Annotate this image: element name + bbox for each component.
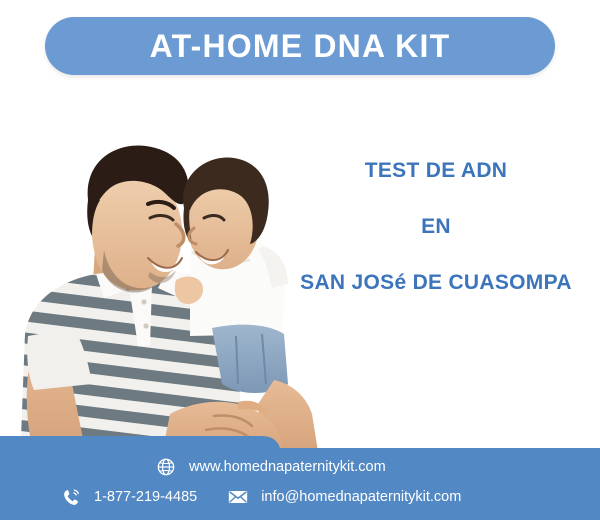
headline-line-3: SAN JOSé DE CUASOMPA [272, 272, 600, 293]
globe-icon [155, 456, 177, 478]
header-band: AT-HOME DNA KIT [0, 0, 600, 92]
phone-icon [60, 486, 82, 508]
envelope-icon [227, 486, 249, 508]
page-title: AT-HOME DNA KIT [150, 30, 451, 62]
headline-block: TEST DE ADN EN SAN JOSé DE CUASOMPA [272, 160, 600, 293]
phone-item[interactable]: 1-877-219-4485 [60, 486, 197, 508]
website-label: www.homednapaternitykit.com [189, 460, 386, 475]
poster-canvas: AT-HOME DNA KIT [0, 0, 600, 520]
title-pill: AT-HOME DNA KIT [45, 17, 555, 75]
footer-contacts: www.homednapaternitykit.com 1-877-219-44… [0, 448, 600, 520]
footer-row-phone-email: 1-877-219-4485 info@homednapaternitykit.… [60, 486, 461, 508]
footer-row-website: www.homednapaternitykit.com [155, 456, 386, 478]
phone-label: 1-877-219-4485 [94, 490, 197, 505]
website-item[interactable]: www.homednapaternitykit.com [155, 456, 386, 478]
headline-line-1: TEST DE ADN [272, 160, 600, 181]
email-label: info@homednapaternitykit.com [261, 490, 461, 505]
email-item[interactable]: info@homednapaternitykit.com [227, 486, 461, 508]
headline-line-2: EN [272, 216, 600, 237]
